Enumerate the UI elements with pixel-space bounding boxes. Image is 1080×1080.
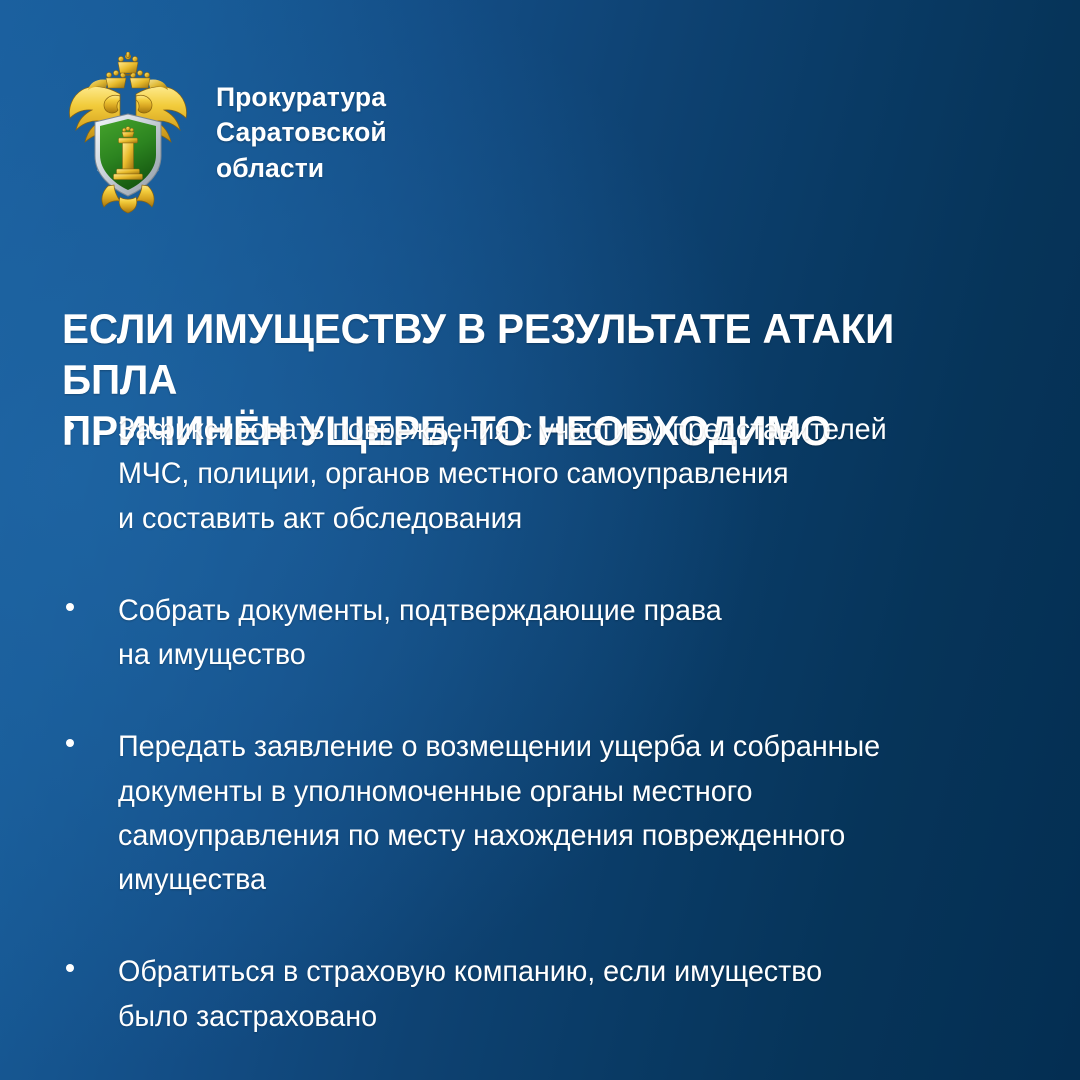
list-item: Передать заявление о возмещении ущерба и… — [62, 725, 1062, 902]
bullet-marker-icon — [62, 589, 118, 611]
list-item-text: Зафиксировать повреждения с участием пре… — [118, 408, 887, 541]
shield-icon — [95, 114, 161, 196]
list-item-text: Обратиться в страховую компанию, если им… — [118, 950, 822, 1039]
list-item: Зафиксировать повреждения с участием пре… — [62, 408, 1062, 541]
eagle-heads — [104, 95, 152, 113]
list-item-text: Передать заявление о возмещении ущерба и… — [118, 725, 880, 902]
bullet-marker-icon — [62, 408, 118, 430]
list-item: Собрать документы, подтверждающие права … — [62, 589, 1062, 678]
organization-name: Прокуратура Саратовской области — [216, 80, 387, 186]
list-item: Обратиться в страховую компанию, если им… — [62, 950, 1062, 1039]
infographic-poster: Прокуратура Саратовской области ЕСЛИ ИМУ… — [0, 0, 1080, 1080]
list-item-text: Собрать документы, подтверждающие права … — [118, 589, 722, 678]
three-crowns-icon — [106, 52, 150, 88]
instruction-list: Зафиксировать повреждения с участием пре… — [62, 408, 1062, 1039]
bullet-marker-icon — [62, 725, 118, 747]
prosecutors-office-emblem-icon — [62, 52, 194, 214]
poster-header: Прокуратура Саратовской области — [62, 52, 387, 214]
bullet-marker-icon — [62, 950, 118, 972]
